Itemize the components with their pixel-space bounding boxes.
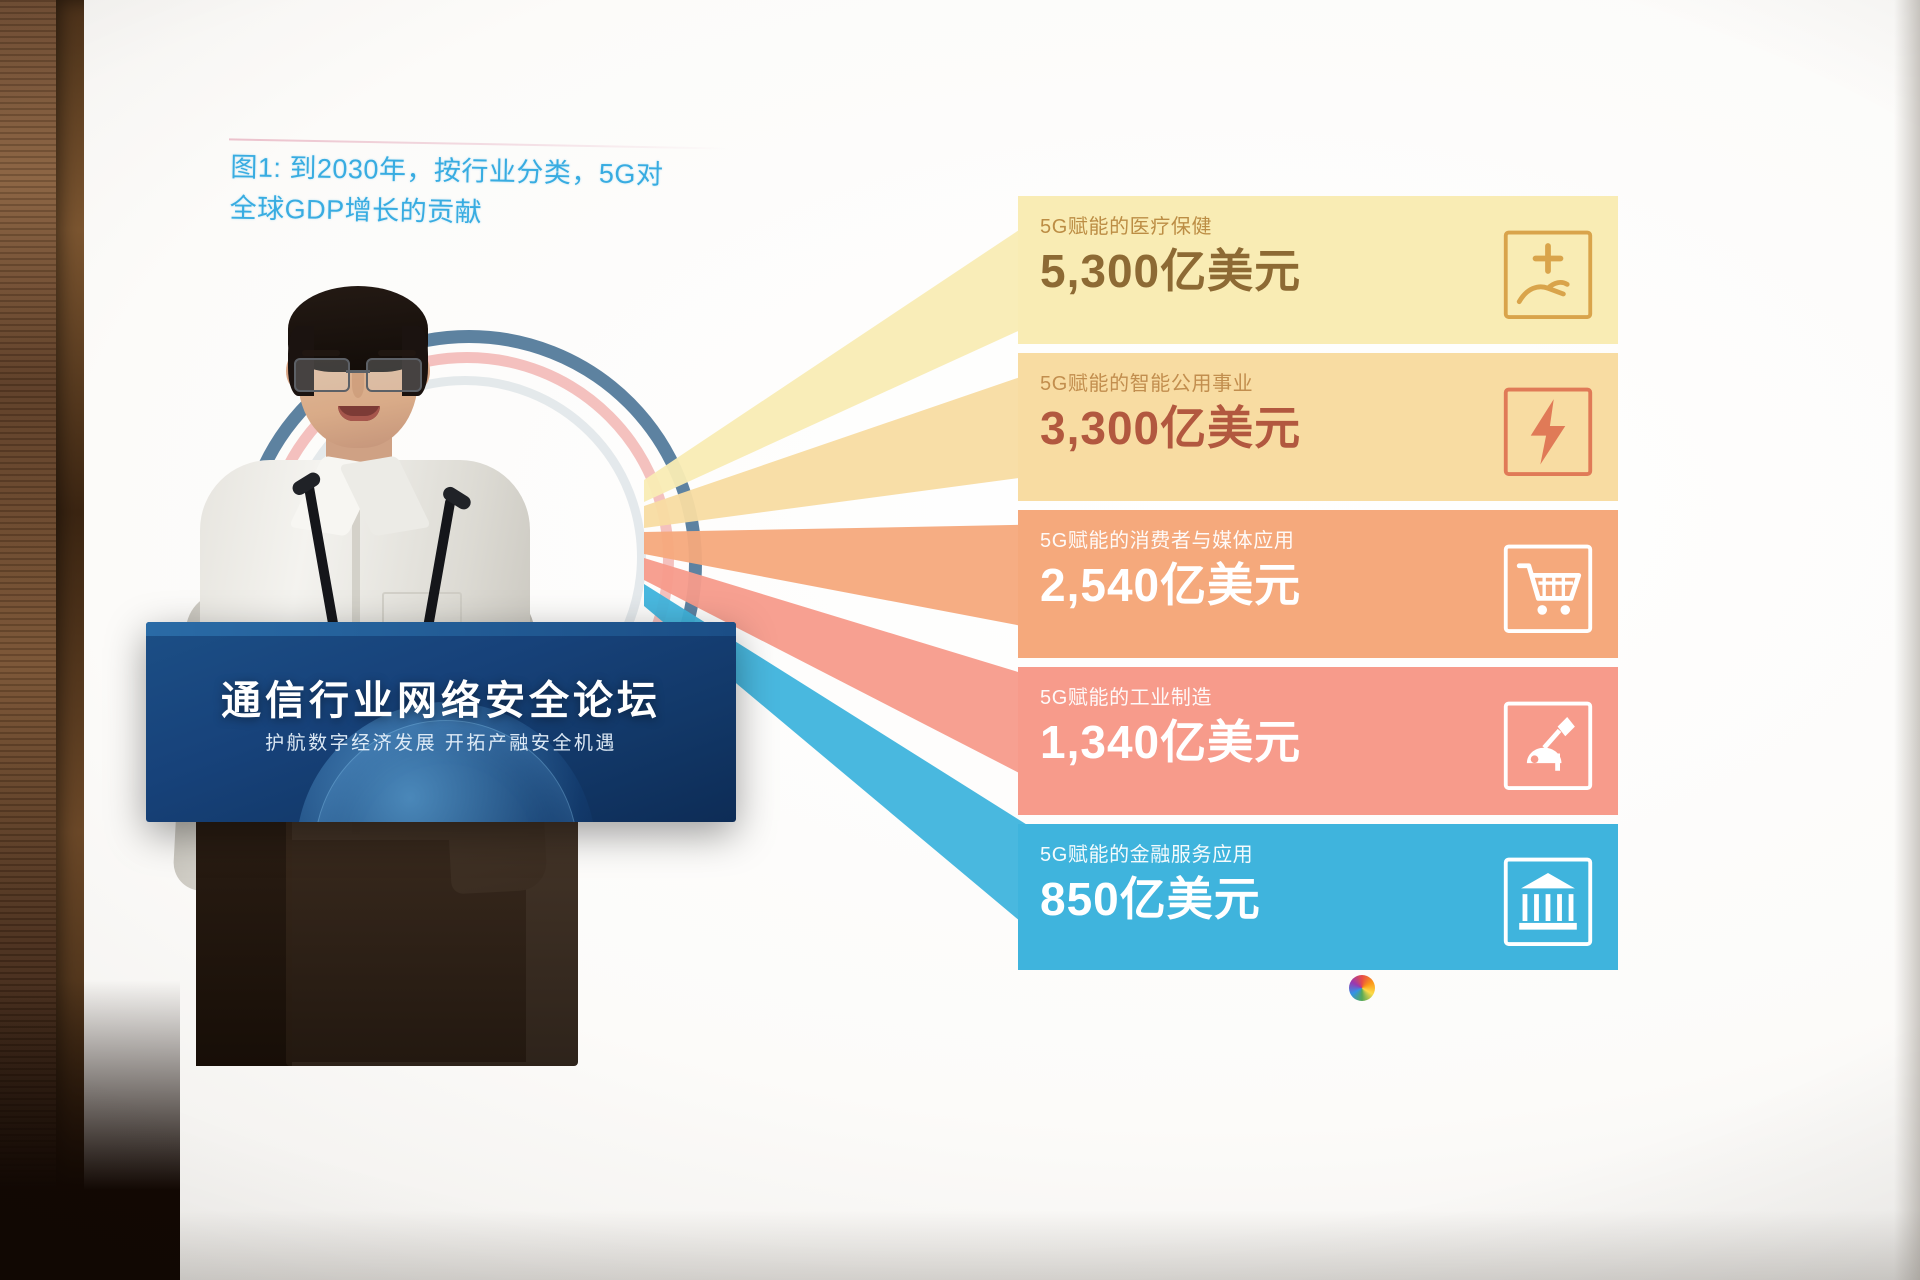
bar-row: 5G赋能的医疗保健 5,300亿美元 <box>1018 196 1618 344</box>
bank-building-icon <box>1500 854 1596 950</box>
glasses-bridge <box>346 370 370 373</box>
screen-right-edge <box>1894 0 1920 1280</box>
funnel-connector <box>644 180 1064 980</box>
bar-chart: 5G赋能的医疗保健 5,300亿美元 5G赋能的智能公用事业 3,300亿美元 <box>1018 196 1618 956</box>
podium-top-edge <box>146 622 736 636</box>
podium-base-left <box>196 818 292 1066</box>
lens-right <box>366 358 422 392</box>
mouth <box>338 406 380 421</box>
forum-subtitle: 护航数字经济发展 开拓产融安全机遇 <box>146 728 736 755</box>
screen-bottom-edge <box>84 1210 1920 1280</box>
wall-shadow-bottom <box>0 980 180 1280</box>
lightning-bolt-icon <box>1500 384 1596 480</box>
healthcare-hand-plus-icon <box>1500 227 1596 323</box>
eyebrow-right <box>378 350 416 356</box>
bar-row: 5G赋能的工业制造 1,340亿美元 <box>1018 667 1618 815</box>
eyebrow-left <box>302 350 340 356</box>
forum-title: 通信行业网络安全论坛 <box>146 668 736 726</box>
bar-row: 5G赋能的智能公用事业 3,300亿美元 <box>1018 353 1618 501</box>
eyeglasses <box>294 358 422 388</box>
brand-logo-dot <box>1349 975 1375 1001</box>
bar-row: 5G赋能的消费者与媒体应用 2,540亿美元 <box>1018 510 1618 658</box>
conference-stage-photo: 图1: 到2030年，按行业分类，5G对 全球GDP增长的贡献 口 7 5G赋能… <box>0 0 1920 1280</box>
lens-left <box>294 358 350 392</box>
robot-arm-icon <box>1500 698 1596 794</box>
bar-row: 5G赋能的金融服务应用 850亿美元 <box>1018 824 1618 970</box>
podium: 通信行业网络安全论坛 护航数字经济发展 开拓产融安全机遇 <box>146 622 736 822</box>
podium-base <box>286 818 578 1066</box>
shopping-cart-icon <box>1500 541 1596 637</box>
